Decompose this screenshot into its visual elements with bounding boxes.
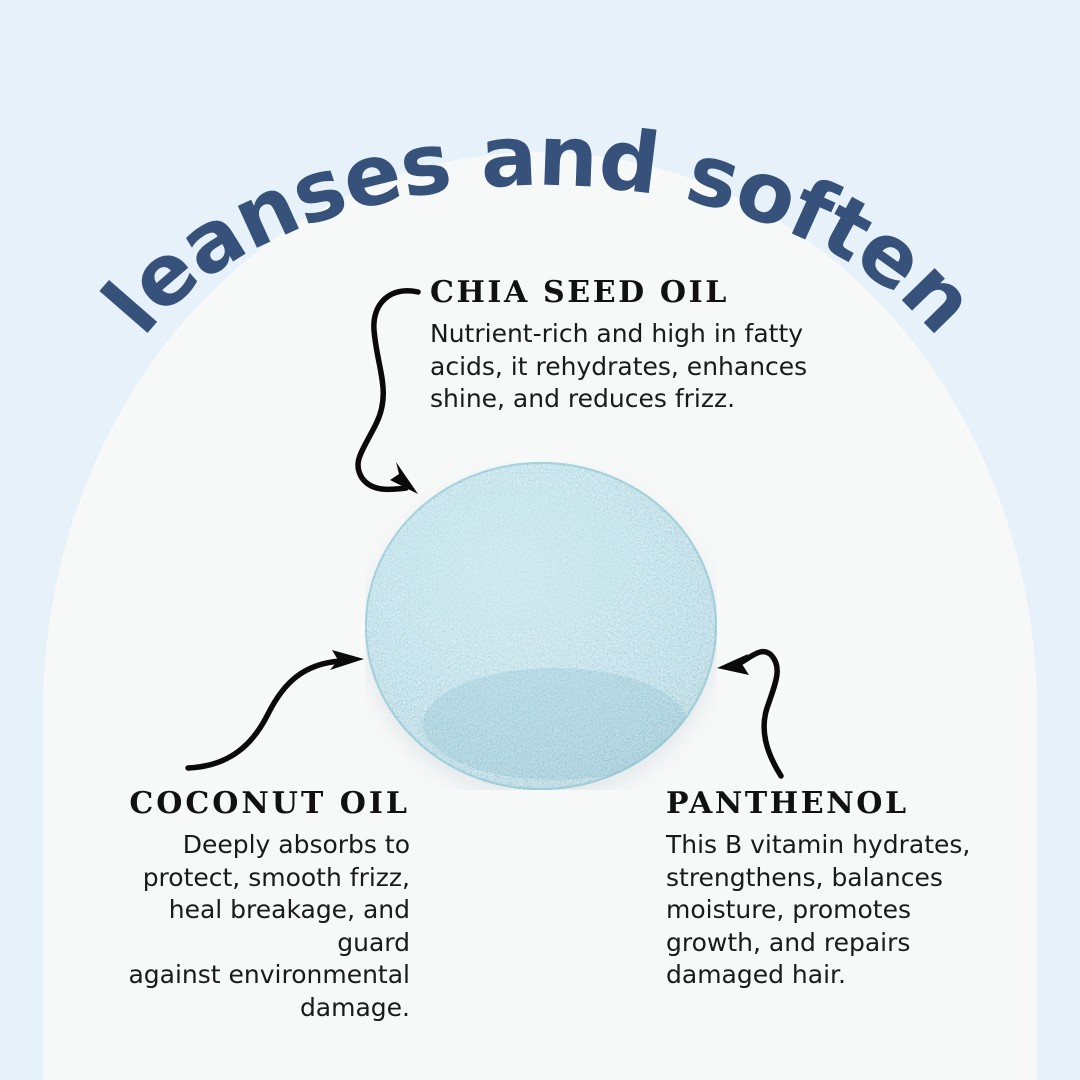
callout-panthenol: PANTHENOL This B vitamin hydrates, stren… [666,786,986,992]
callout-coconut-oil-title: COCONUT OIL [90,786,410,821]
shampoo-bar-svg [365,462,717,790]
shampoo-bar-photo [365,462,717,790]
infographic-stage: cleanses and softens [0,0,1080,1080]
callout-chia-seed-oil-body: Nutrient-rich and high in fatty acids, i… [430,318,810,416]
callout-coconut-oil: COCONUT OIL Deeply absorbs to protect, s… [90,786,410,1024]
callout-chia-seed-oil: CHIA SEED OIL Nutrient-rich and high in … [430,275,810,416]
callout-panthenol-title: PANTHENOL [666,786,986,821]
callout-panthenol-body: This B vitamin hydrates, strengthens, ba… [666,829,986,992]
callout-chia-seed-oil-title: CHIA SEED OIL [430,275,810,310]
callout-coconut-oil-body: Deeply absorbs to protect, smooth frizz,… [90,829,410,1024]
